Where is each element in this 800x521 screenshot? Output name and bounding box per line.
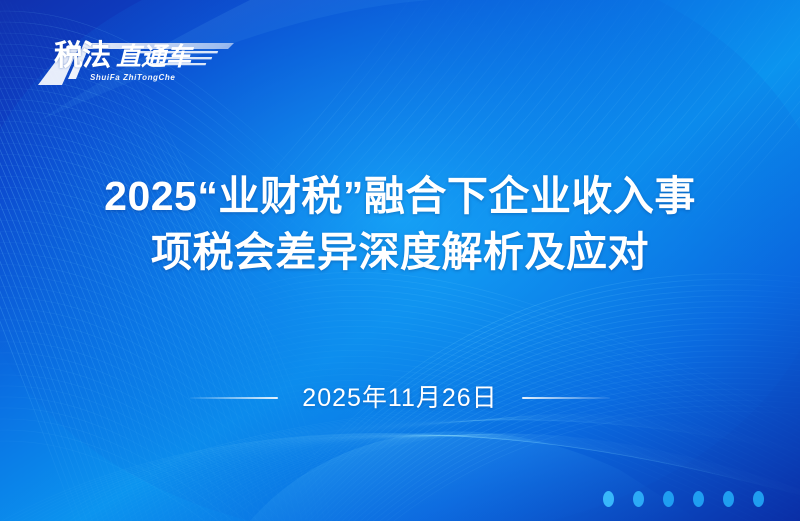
bottom-dot-decoration xyxy=(603,491,764,507)
poster-canvas: 税法 直通车 ShuiFa ZhiTongChe 2025“业财税”融合下企业收… xyxy=(0,0,800,521)
decoration-dot xyxy=(723,491,734,507)
poster-title-line-1: 2025“业财税”融合下企业收入事 xyxy=(0,168,800,224)
brand-name-cn-italic: 直通车 xyxy=(116,42,191,72)
date-rule-left-icon xyxy=(190,397,278,399)
brand-logo: 税法 直通车 ShuiFa ZhiTongChe xyxy=(38,33,238,95)
poster-title: 2025“业财税”融合下企业收入事 项税会差异深度解析及应对 xyxy=(0,168,800,280)
brand-pinyin: ShuiFa ZhiTongChe xyxy=(90,73,175,82)
decoration-dot xyxy=(633,491,644,507)
decoration-dot xyxy=(693,491,704,507)
poster-date: 2025年11月26日 xyxy=(302,383,497,413)
date-rule-right-icon xyxy=(522,397,610,399)
decoration-dot xyxy=(603,491,614,507)
brand-name-cn: 税法 xyxy=(54,39,110,73)
decoration-dot xyxy=(753,491,764,507)
poster-date-row: 2025年11月26日 xyxy=(0,383,800,413)
decoration-dot xyxy=(663,491,674,507)
poster-title-line-2: 项税会差异深度解析及应对 xyxy=(0,224,800,280)
